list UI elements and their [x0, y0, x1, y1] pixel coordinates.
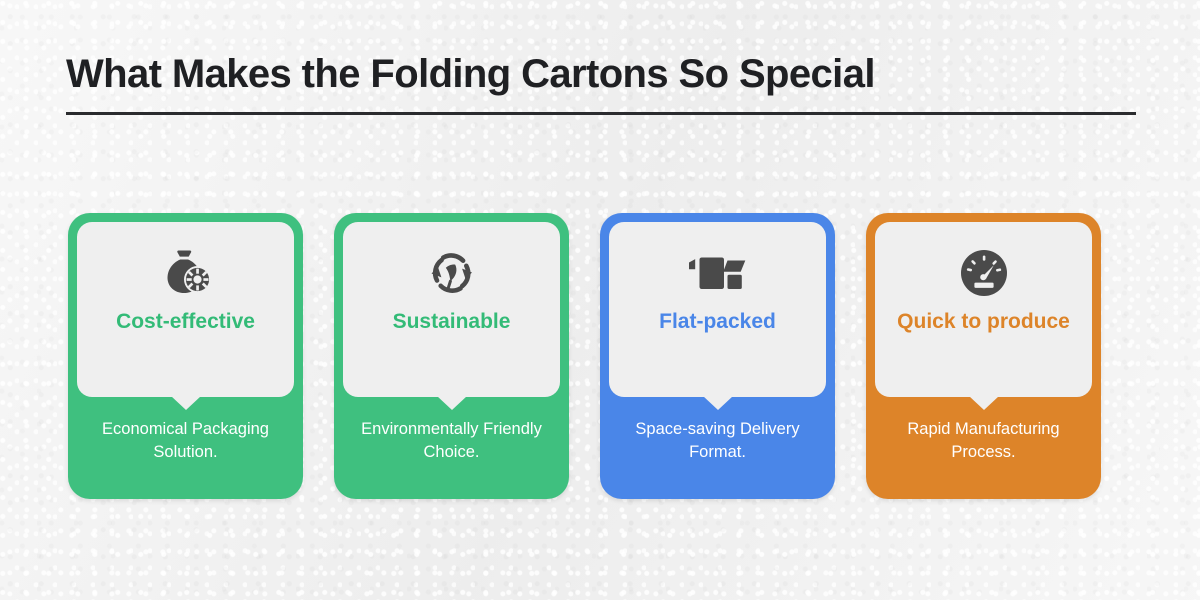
feature-card-cost-effective[interactable]: Cost-effective Economical Packaging Solu… [68, 213, 303, 499]
recycle-leaf-icon [425, 244, 479, 302]
card-description: Economical Packaging Solution. [77, 397, 294, 490]
feature-card-list: Cost-effective Economical Packaging Solu… [68, 213, 1134, 499]
card-bubble-panel: Sustainable [343, 222, 560, 397]
card-title: Sustainable [385, 310, 519, 335]
card-description: Environmentally Friendly Choice. [343, 397, 560, 490]
card-title: Flat-packed [651, 310, 784, 335]
card-title: Cost-effective [108, 310, 263, 335]
money-bag-coin-icon [158, 244, 214, 302]
card-bubble-panel: Quick to produce [875, 222, 1092, 397]
card-description: Space-saving Delivery Format. [609, 397, 826, 490]
card-bubble-panel: Flat-packed [609, 222, 826, 397]
header: What Makes the Folding Cartons So Specia… [66, 52, 1136, 115]
page-title: What Makes the Folding Cartons So Specia… [66, 52, 1136, 96]
title-underline-rule [66, 112, 1136, 115]
feature-card-quick-to-produce[interactable]: Quick to produce Rapid Manufacturing Pro… [866, 213, 1101, 499]
feature-card-flat-packed[interactable]: Flat-packed Space-saving Delivery Format… [600, 213, 835, 499]
feature-card-sustainable[interactable]: Sustainable Environmentally Friendly Cho… [334, 213, 569, 499]
card-description: Rapid Manufacturing Process. [875, 397, 1092, 490]
flat-packed-box-icon [687, 244, 749, 302]
card-bubble-panel: Cost-effective [77, 222, 294, 397]
infographic-page: What Makes the Folding Cartons So Specia… [0, 0, 1200, 600]
speedometer-icon [958, 244, 1010, 302]
card-title: Quick to produce [889, 310, 1078, 335]
